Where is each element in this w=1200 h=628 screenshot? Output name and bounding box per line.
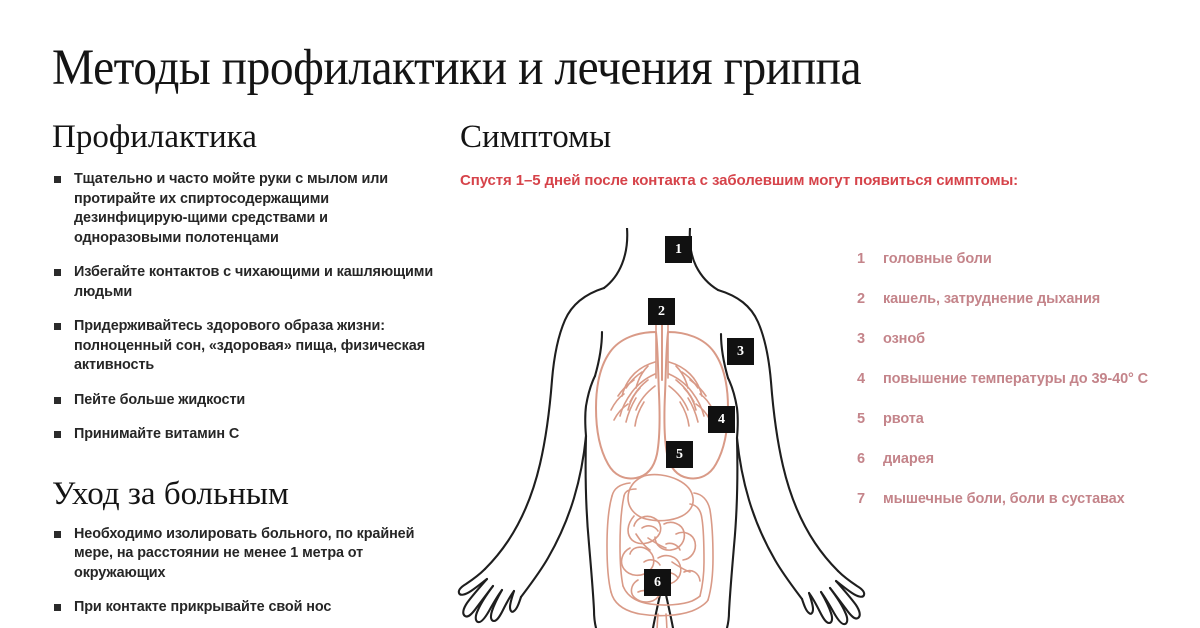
body-marker-2[interactable]: 2 [648,298,675,325]
body-marker-1[interactable]: 1 [665,236,692,263]
body-marker-number: 2 [658,304,665,320]
list-item-text: Избегайте контактов с чихающими и кашляю… [74,264,433,300]
symptoms-intro: Спустя 1–5 дней после контакта с заболев… [460,170,1080,192]
symptom-label: диарея [883,450,1187,469]
square-bullet-icon [54,323,61,330]
body-marker-number: 1 [675,242,682,258]
square-bullet-icon [54,176,61,183]
list-item: 1 головные боли [857,250,1187,269]
body-outline [459,228,864,628]
list-item: Пейте больше жидкости [52,391,434,411]
list-item-text: Придерживайтесь здорового образа жизни: … [74,318,425,373]
body-marker-number: 6 [654,575,661,591]
prevention-list: Тщательно и часто мойте руки с мылом или… [52,170,434,445]
symptoms-heading: Симптомы [460,118,1160,156]
symptom-label: кашель, затруднение дыхания [883,290,1187,309]
list-item-text: Необходимо изолировать больного, по край… [74,526,414,581]
list-item-text: Тщательно и часто мойте руки с мылом или… [74,171,388,246]
body-marker-number: 5 [676,447,683,463]
human-body-diagram: 1 2 3 4 5 6 [452,228,872,628]
square-bullet-icon [54,431,61,438]
list-item-text: Принимайте витамин С [74,426,239,442]
page-title: Методы профилактики и лечения гриппа [52,40,1084,96]
list-item: 2 кашель, затруднение дыхания [857,290,1187,309]
list-item-text: Пейте больше жидкости [74,392,245,408]
square-bullet-icon [54,531,61,538]
list-item-text: При контакте прикрывайте свой нос [74,599,331,615]
square-bullet-icon [54,604,61,611]
symptom-label: мышечные боли, боли в суставах [883,490,1187,509]
list-item: 3 озноб [857,330,1187,349]
list-item: 7 мышечные боли, боли в суставах [857,490,1187,509]
torso-illustration [452,228,872,628]
care-heading: Уход за больным [52,475,434,513]
body-marker-4[interactable]: 4 [708,406,735,433]
symptom-label: повышение температуры до 39-40° С [883,370,1187,389]
list-item: Тщательно и часто мойте руки с мылом или… [52,170,434,248]
list-item: 4 повышение температуры до 39-40° С [857,370,1187,389]
body-marker-6[interactable]: 6 [644,569,671,596]
list-item: 6 диарея [857,450,1187,469]
body-marker-3[interactable]: 3 [727,338,754,365]
body-marker-number: 3 [737,344,744,360]
square-bullet-icon [54,269,61,276]
symptom-number-list: 1 головные боли 2 кашель, затруднение ды… [857,250,1187,509]
symptoms-column: Симптомы Спустя 1–5 дней после контакта … [460,118,1160,192]
prevention-column: Профилактика Тщательно и часто мойте рук… [52,118,434,618]
list-item: Избегайте контактов с чихающими и кашляю… [52,263,434,302]
symptom-label: головные боли [883,250,1187,269]
list-item: Принимайте витамин С [52,425,434,445]
body-marker-number: 4 [718,412,725,428]
list-item: Необходимо изолировать больного, по край… [52,525,434,584]
symptom-label: озноб [883,330,1187,349]
prevention-heading: Профилактика [52,118,434,156]
symptom-label: рвота [883,410,1187,429]
body-marker-5[interactable]: 5 [666,441,693,468]
list-item: Придерживайтесь здорового образа жизни: … [52,317,434,376]
care-list: Необходимо изолировать больного, по край… [52,525,434,618]
list-item: При контакте прикрывайте свой нос [52,598,434,618]
list-item: 5 рвота [857,410,1187,429]
square-bullet-icon [54,397,61,404]
